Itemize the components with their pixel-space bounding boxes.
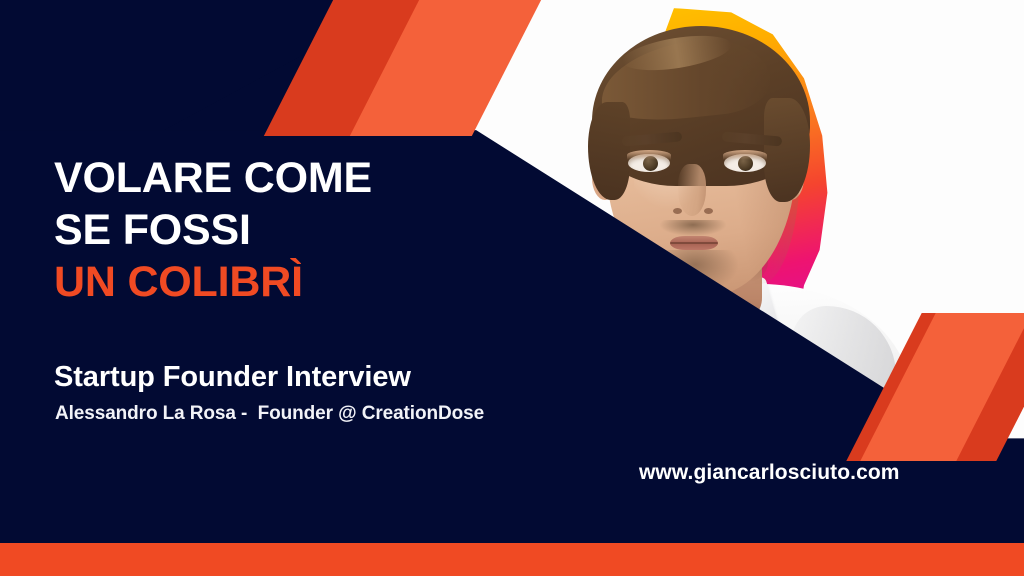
thumbnail-canvas: VOLARE COME SE FOSSI UN COLIBRÌ Startup … [0,0,1024,576]
mouth-line [670,242,718,244]
eyelid-right [723,150,767,160]
website-url: www.giancarlosciuto.com [639,461,900,485]
nostril-right [704,208,713,214]
headline-line-1: VOLARE COME [54,152,524,204]
bottom-orange-bar [0,543,1024,576]
guest-byline: Alessandro La Rosa - Founder @ CreationD… [55,403,484,425]
headline: VOLARE COME SE FOSSI UN COLIBRÌ [54,152,524,308]
nostril-left [673,208,682,214]
eyelid-left [627,150,671,160]
headline-line-3: UN COLIBRÌ [54,256,524,308]
nose [678,164,706,216]
hair-side-right [764,98,810,202]
series-title: Startup Founder Interview [54,361,411,394]
moustache [660,220,726,236]
hair-side-left [588,102,630,200]
headline-line-2: SE FOSSI [54,204,524,256]
